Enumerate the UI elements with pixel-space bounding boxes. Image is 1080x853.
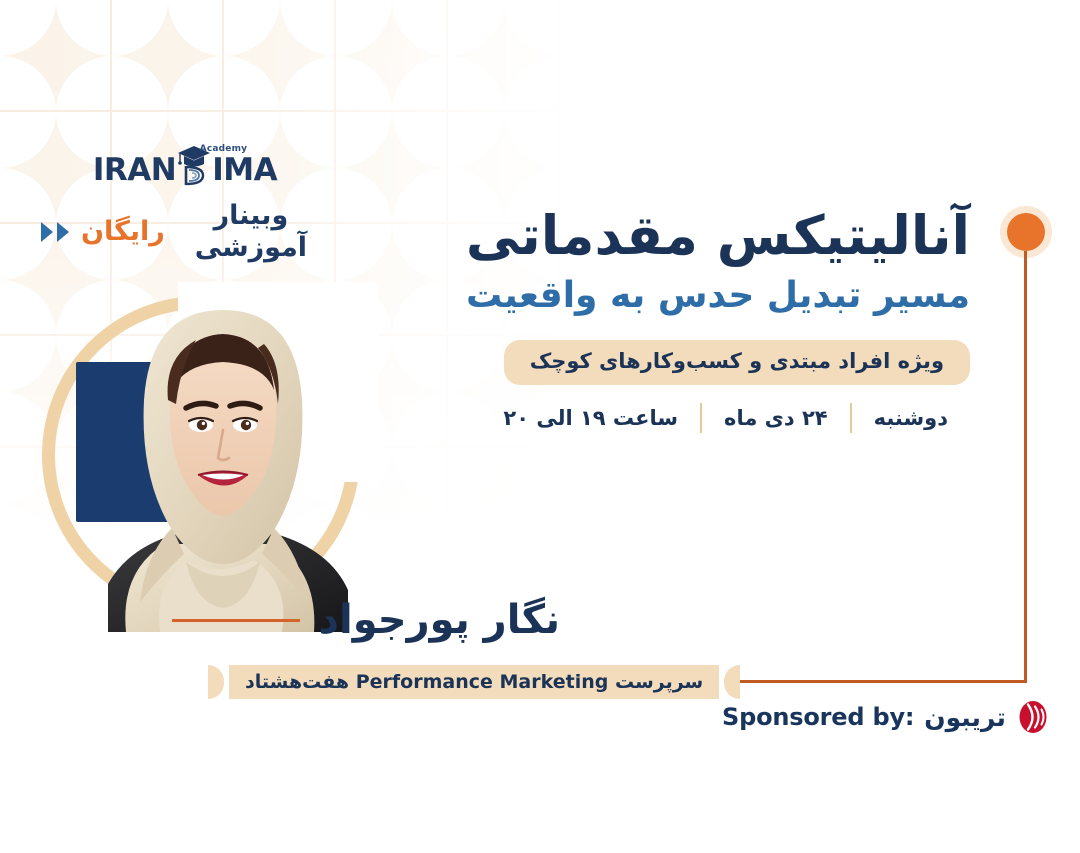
headline-block: آنالیتیکس مقدماتی مسیر تبدیل حدس به واقع… <box>350 206 970 433</box>
role-badge-cap-start <box>724 665 740 699</box>
speaker-role-badge: سرپرست Performance Marketing هفت‌هشتاد <box>208 665 740 699</box>
schedule-day: دوشنبه <box>852 406 970 430</box>
speaker-role: سرپرست Performance Marketing هفت‌هشتاد <box>229 665 719 699</box>
speaker-portrait <box>68 272 378 632</box>
tagline-highlight: رایگان <box>81 216 165 248</box>
graduation-cap-icon: Academy <box>177 140 211 186</box>
role-badge-gap-end <box>224 665 229 699</box>
double-chevron-right-icon <box>40 221 74 243</box>
speaker-name-rule <box>172 619 300 622</box>
tagline-prefix: وبینار آموزشی <box>172 200 330 265</box>
page-subtitle: مسیر تبدیل حدس به واقعیت <box>350 274 970 317</box>
tagline: وبینار آموزشی رایگان <box>40 200 330 265</box>
page-title: آنالیتیکس مقدماتی <box>350 206 970 266</box>
logo-word-right: IMA <box>212 155 277 186</box>
schedule-row: دوشنبه ۲۴ دی ماه ساعت ۱۹ الی ۲۰ <box>350 403 970 433</box>
logo-academy-label: Academy <box>200 144 248 154</box>
brand-block: IRAN Academy IMA وبینار آمو <box>40 138 330 265</box>
webinar-poster: IRAN Academy IMA وبینار آمو <box>0 0 1080 853</box>
sponsor-block: Sponsored by: تریبون <box>722 700 1050 734</box>
vertical-accent-line <box>1024 251 1027 682</box>
audience-badge: ویژه افراد مبتدی و کسب‌وکارهای کوچک <box>504 340 970 385</box>
role-badge-gap-start <box>719 665 724 699</box>
logo-word-left: IRAN <box>93 155 176 186</box>
schedule-date: ۲۴ دی ماه <box>702 406 850 430</box>
schedule-separator-2 <box>700 403 702 433</box>
sponsor-label: Sponsored by: <box>722 705 914 729</box>
sponsor-name: تریبون <box>924 705 1006 730</box>
schedule-time: ساعت ۱۹ الی ۲۰ <box>481 406 700 430</box>
orange-dot-accent <box>1007 213 1045 251</box>
speaker-name-row: نگار پورجواد <box>172 600 560 640</box>
irandima-logo: IRAN Academy IMA <box>40 138 330 186</box>
schedule-separator-1 <box>850 403 852 433</box>
speaker-name: نگار پورجواد <box>318 600 560 640</box>
tribun-soundwave-icon <box>1016 700 1050 734</box>
role-badge-cap-end <box>208 665 224 699</box>
